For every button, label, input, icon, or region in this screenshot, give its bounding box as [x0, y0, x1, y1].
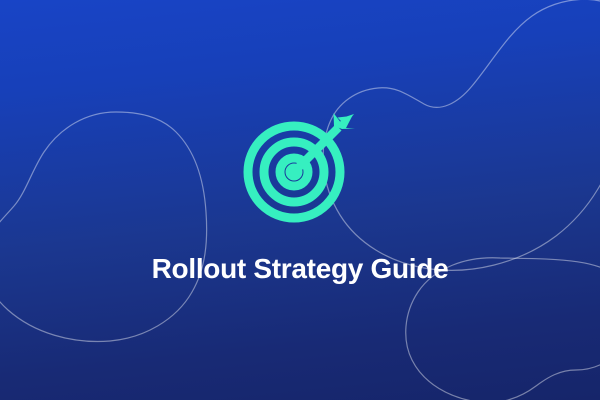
target-with-arrow-icon [242, 108, 358, 224]
page-title: Rollout Strategy Guide [152, 254, 449, 285]
target-with-arrow-glyph [242, 108, 358, 224]
slide-content: Rollout Strategy Guide [0, 0, 600, 400]
title-slide: Rollout Strategy Guide [0, 0, 600, 400]
